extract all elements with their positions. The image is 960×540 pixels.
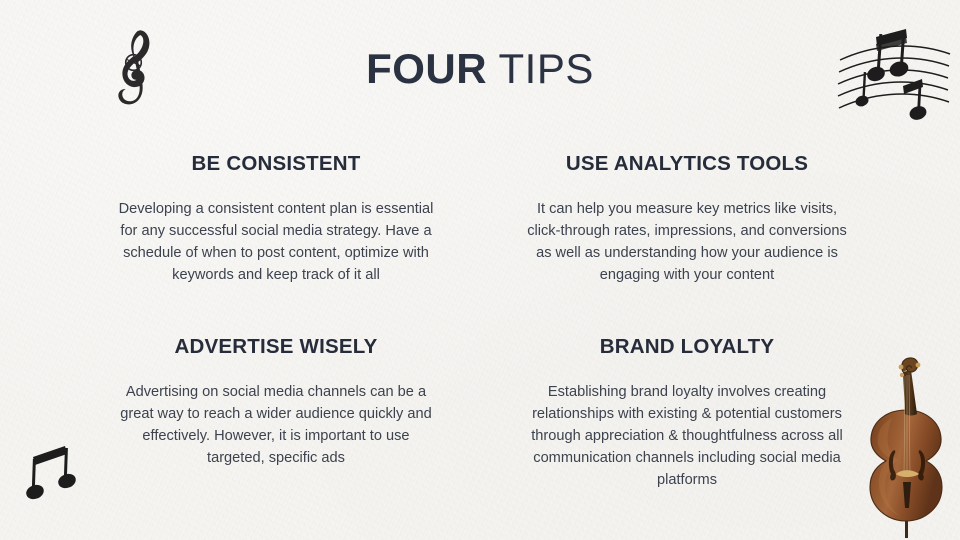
slide-canvas: FOUR TIPS BE CONSISTENT Developing a con…: [0, 0, 960, 540]
tip-card-advertise-wisely: ADVERTISE WISELY Advertising on social m…: [106, 335, 446, 469]
page-title-bold-word: FOUR: [366, 45, 487, 92]
tip-card-be-consistent: BE CONSISTENT Developing a consistent co…: [106, 152, 446, 286]
music-staff-notes-icon: [836, 24, 954, 124]
tips-grid: BE CONSISTENT Developing a consistent co…: [0, 140, 960, 530]
tip-card-use-analytics-tools: USE ANALYTICS TOOLS It can help you meas…: [517, 152, 857, 286]
page-title-light-word: TIPS: [487, 45, 594, 92]
double-bass-icon: [856, 356, 960, 540]
tip-heading: BE CONSISTENT: [106, 152, 446, 176]
tip-body: It can help you measure key metrics like…: [517, 198, 857, 287]
tip-body: Developing a consistent content plan is …: [106, 198, 446, 287]
tip-heading: BRAND LOYALTY: [517, 335, 857, 359]
tip-card-brand-loyalty: BRAND LOYALTY Establishing brand loyalty…: [517, 335, 857, 491]
tip-heading: USE ANALYTICS TOOLS: [517, 152, 857, 176]
tip-body: Establishing brand loyalty involves crea…: [517, 381, 857, 492]
tip-body: Advertising on social media channels can…: [106, 381, 446, 470]
eighth-notes-icon: [24, 436, 84, 506]
tip-heading: ADVERTISE WISELY: [106, 335, 446, 359]
treble-clef-icon: [108, 26, 164, 112]
